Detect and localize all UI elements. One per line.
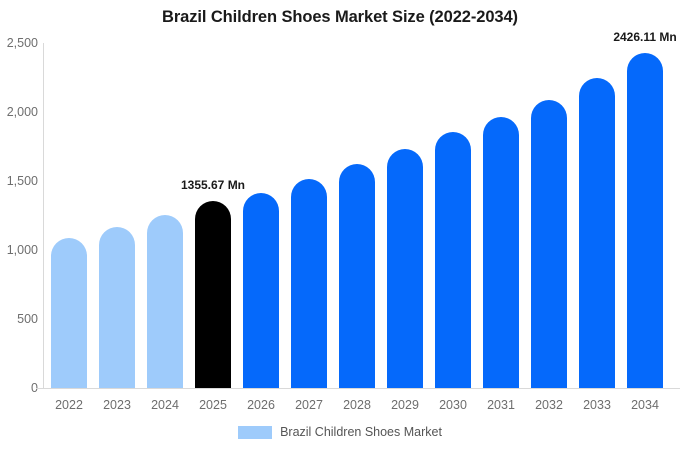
x-axis-tick-2032: 2032 <box>525 398 573 412</box>
bars-layer: 2022202320242025202620272028202920302031… <box>0 0 680 450</box>
x-axis-tick-2024: 2024 <box>141 398 189 412</box>
x-axis-tick-2026: 2026 <box>237 398 285 412</box>
x-axis-tick-2023: 2023 <box>93 398 141 412</box>
x-axis-tick-2029: 2029 <box>381 398 429 412</box>
x-axis-tick-2033: 2033 <box>573 398 621 412</box>
data-label-2034: 2426.11 Mn <box>613 30 676 44</box>
x-axis-tick-2031: 2031 <box>477 398 525 412</box>
x-axis-tick-2025: 2025 <box>189 398 237 412</box>
data-label-2025: 1355.67 Mn <box>181 178 245 192</box>
bar-2024[interactable] <box>147 215 183 388</box>
legend-swatch <box>238 426 272 439</box>
bar-2028[interactable] <box>339 164 375 388</box>
bar-2023[interactable] <box>99 227 135 388</box>
chart-legend: Brazil Children Shoes Market <box>0 425 680 439</box>
bar-2031[interactable] <box>483 117 519 388</box>
x-axis-tick-2034: 2034 <box>621 398 669 412</box>
bar-2027[interactable] <box>291 179 327 388</box>
bar-2025[interactable] <box>195 201 231 388</box>
bar-2022[interactable] <box>51 238 87 388</box>
bar-2030[interactable] <box>435 132 471 388</box>
x-axis-tick-2027: 2027 <box>285 398 333 412</box>
x-axis-tick-2030: 2030 <box>429 398 477 412</box>
bar-2033[interactable] <box>579 78 615 388</box>
bar-2026[interactable] <box>243 193 279 388</box>
bar-2032[interactable] <box>531 100 567 388</box>
legend-label: Brazil Children Shoes Market <box>280 425 442 439</box>
chart-container: Brazil Children Shoes Market Size (2022-… <box>0 0 680 450</box>
bar-2029[interactable] <box>387 149 423 388</box>
x-axis-tick-2022: 2022 <box>45 398 93 412</box>
x-axis-tick-2028: 2028 <box>333 398 381 412</box>
bar-2034[interactable] <box>627 53 663 388</box>
